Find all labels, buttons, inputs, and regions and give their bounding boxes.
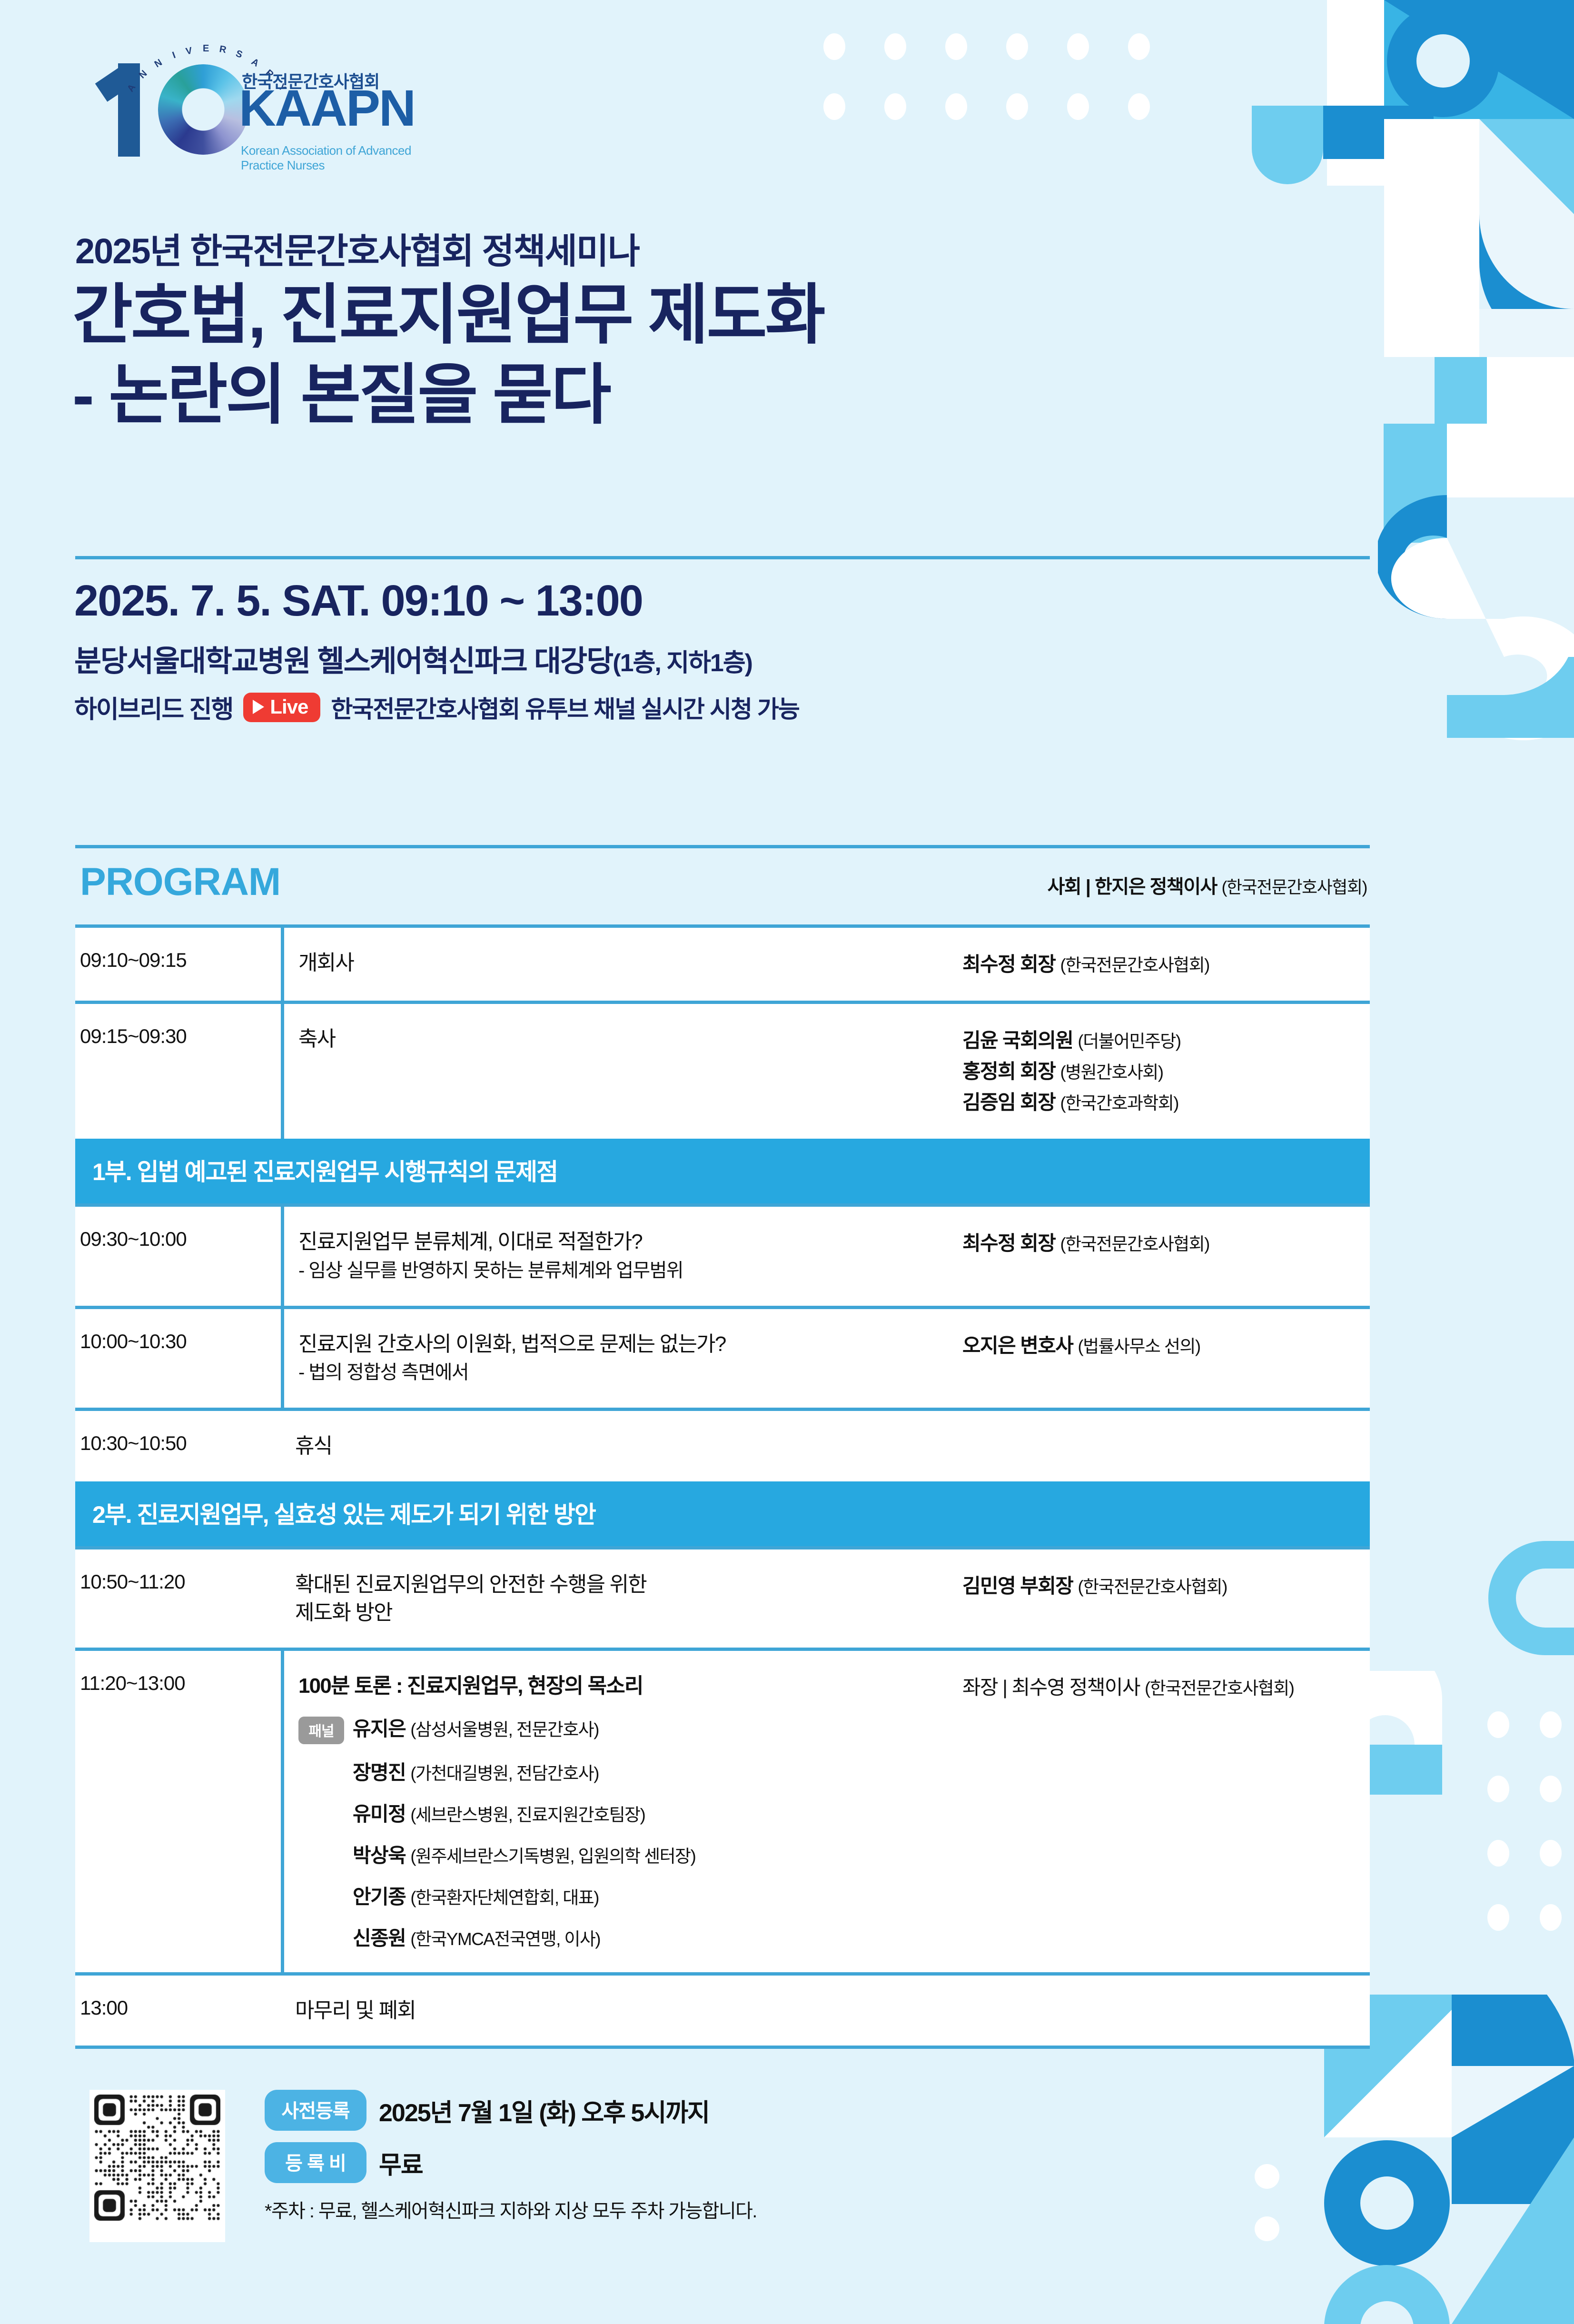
panelist-name: 박상욱	[353, 1844, 406, 1867]
panel-badge-spacer: .	[298, 1885, 344, 1907]
hybrid-info: 하이브리드 진행 Live 한국전문간호사협회 유투브 채널 실시간 시청 가능	[74, 689, 799, 725]
program-table: PROGRAM 사회 | 한지은 정책이사 (한국전문간호사협회) 09:10~…	[75, 845, 1370, 2049]
row-title: 100분 토론 : 진료지원업무, 현장의 목소리	[298, 1672, 951, 1700]
fee-pill: 등 록 비	[265, 2142, 366, 2183]
panelist: 유미정 (세브란스병원, 진료지원간호팀장)	[353, 1798, 645, 1827]
speaker: 최수정 회장 (한국전문간호사협회)	[962, 1228, 1370, 1259]
table-row: 13:00 마무리 및 폐회	[75, 1972, 1370, 2046]
panel-badge-spacer: .	[298, 1843, 344, 1866]
live-badge-label: Live	[270, 695, 308, 718]
row-time: 09:15~09:30	[75, 1004, 281, 1139]
program-header: PROGRAM 사회 | 한지은 정책이사 (한국전문간호사협회)	[75, 845, 1370, 924]
section-banner-part2: 2부. 진료지원업무, 실효성 있는 제도가 되기 위한 방안	[75, 1481, 1370, 1546]
speaker-org: (더불어민주당)	[1078, 1032, 1180, 1051]
panel-badge-spacer: .	[298, 1926, 344, 1949]
list-item: . 안기종 (한국환자단체연합회, 대표)	[298, 1881, 951, 1910]
panelist-name: 안기종	[353, 1886, 406, 1908]
speaker: 오지은 변호사 (법률사무소 선의)	[962, 1330, 1370, 1361]
speaker: 최수정 회장 (한국전문간호사협회)	[962, 949, 1370, 980]
row-content: 개회사	[281, 928, 951, 1001]
row-title: 개회사	[298, 949, 951, 977]
row-content: 축사	[281, 1004, 951, 1139]
fee-value: 무료	[379, 2145, 423, 2181]
row-speakers: 오지은 변호사 (법률사무소 선의)	[951, 1309, 1370, 1408]
table-row: 10:00~10:30 진료지원 간호사의 이원화, 법적으로 문제는 없는가?…	[75, 1306, 1370, 1408]
play-icon	[253, 700, 264, 714]
speaker: 김윤 국회의원 (더불어민주당)	[962, 1025, 1370, 1056]
venue-main: 분당서울대학교병원 헬스케어혁신파크 대강당	[74, 645, 613, 678]
logo-acronym: KAAPN	[239, 82, 415, 134]
panelist-org: (원주세브란스기독병원, 입원의학 센터장)	[410, 1847, 695, 1866]
row-speakers: 최수정 회장 (한국전문간호사협회)	[951, 1207, 1370, 1305]
chair-name: 좌장 | 최수영 정책이사	[962, 1676, 1140, 1698]
panelist-name: 장명진	[353, 1761, 406, 1784]
panelist-name: 유지은	[353, 1718, 406, 1740]
speaker-name: 홍정희 회장	[962, 1060, 1055, 1083]
row-content: 100분 토론 : 진료지원업무, 현장의 목소리 패널 유지은 (삼성서울병원…	[281, 1651, 951, 1972]
row-speakers	[951, 1976, 1370, 2046]
panelist: 박상욱 (원주세브란스기독병원, 입원의학 센터장)	[353, 1839, 695, 1868]
list-item: 패널 유지은 (삼성서울병원, 전문간호사)	[298, 1713, 951, 1744]
panelist-org: (한국환자단체연합회, 대표)	[410, 1888, 599, 1907]
speaker-name: 김윤 국회의원	[962, 1029, 1073, 1052]
moderator: 사회 | 한지은 정책이사 (한국전문간호사협회)	[1048, 871, 1367, 899]
program-heading: PROGRAM	[80, 860, 280, 904]
speaker-org: (한국전문간호사협회)	[1060, 955, 1209, 975]
row-subtitle: - 임상 실무를 반영하지 못하는 분류체계와 업무범위	[298, 1256, 951, 1285]
stream-note: 한국전문간호사협회 유투브 채널 실시간 시청 가능	[331, 690, 799, 725]
event-title: 간호법, 진료지원업무 제도화 - 논란의 본질을 묻다	[72, 275, 824, 436]
row-time: 09:10~09:15	[75, 928, 281, 1001]
row-speakers: 최수정 회장 (한국전문간호사협회)	[951, 928, 1370, 1001]
table-row: 09:10~09:15 개회사 최수정 회장 (한국전문간호사협회)	[75, 924, 1370, 1001]
header-divider	[75, 556, 1370, 559]
panel-badge: 패널	[298, 1717, 344, 1744]
row-content: 마무리 및 폐회	[281, 1976, 951, 2046]
row-time: 09:30~10:00	[75, 1207, 281, 1305]
panelist-org: (가천대길병원, 전담간호사)	[410, 1764, 599, 1783]
logo-english-name: Korean Association of Advanced Practice …	[241, 143, 414, 173]
panelist-name: 유미정	[353, 1803, 406, 1825]
row-time: 10:00~10:30	[75, 1309, 281, 1408]
decor-right-c-shape	[1437, 1530, 1574, 1730]
table-row-panel: 11:20~13:00 100분 토론 : 진료지원업무, 현장의 목소리 패널…	[75, 1648, 1370, 1972]
speaker-org: (한국전문간호사협회)	[1060, 1234, 1209, 1254]
row-speakers	[951, 1411, 1370, 1481]
panel-badge-spacer: .	[298, 1760, 344, 1783]
panelist: 유지은 (삼성서울병원, 전문간호사)	[353, 1713, 599, 1742]
list-item: . 장명진 (가천대길병원, 전담간호사)	[298, 1757, 951, 1786]
pre-registration-row: 사전등록 2025년 7월 1일 (화) 오후 5시까지	[265, 2090, 709, 2131]
row-time: 10:50~11:20	[75, 1549, 281, 1648]
speaker-org: (한국전문간호사협회)	[1078, 1577, 1227, 1597]
event-venue: 분당서울대학교병원 헬스케어혁신파크 대강당(1층, 지하1층)	[74, 637, 752, 680]
panelist-org: (한국YMCA전국연맹, 이사)	[410, 1929, 600, 1949]
row-chair: 좌장 | 최수영 정책이사 (한국전문간호사협회)	[951, 1651, 1370, 1972]
panelist-org: (삼성서울병원, 전문간호사)	[410, 1720, 599, 1739]
row-title: 휴식	[295, 1432, 951, 1460]
parking-note: *주차 : 무료, 헬스케어혁신파크 지하와 지상 모두 주차 가능합니다.	[265, 2195, 757, 2223]
fee-row: 등 록 비 무료	[265, 2142, 709, 2183]
row-content: 확대된 진료지원업무의 안전한 수행을 위한 제도화 방안	[281, 1549, 951, 1648]
row-speakers: 김민영 부회장 (한국전문간호사협회)	[951, 1549, 1370, 1648]
panelist: 신종원 (한국YMCA전국연맹, 이사)	[353, 1922, 600, 1951]
kaapn-logo: A N N I V E R S A R Y 한국전문간호사협회 KAAPN Ko…	[52, 26, 414, 169]
speaker-name: 최수정 회장	[962, 953, 1055, 975]
table-bottom-divider	[75, 2046, 1370, 2049]
hybrid-label: 하이브리드 진행	[74, 689, 233, 725]
row-title: 축사	[298, 1025, 951, 1053]
speaker-name: 김민영 부회장	[962, 1575, 1073, 1597]
pre-register-pill: 사전등록	[265, 2090, 366, 2131]
speaker-org: (법률사무소 선의)	[1078, 1337, 1200, 1356]
section-banner-part1: 1부. 입법 예고된 진료지원업무 시행규칙의 문제점	[75, 1139, 1370, 1203]
speaker-org: (병원간호사회)	[1060, 1063, 1163, 1082]
panelist: 안기종 (한국환자단체연합회, 대표)	[353, 1881, 599, 1910]
moderator-name: 사회 | 한지은 정책이사	[1048, 876, 1217, 897]
live-badge: Live	[243, 693, 320, 722]
speaker: 김증임 회장 (한국간호과학회)	[962, 1087, 1370, 1118]
registration-info: 사전등록 2025년 7월 1일 (화) 오후 5시까지 등 록 비 무료	[265, 2090, 709, 2195]
event-kicker: 2025년 한국전문간호사협회 정책세미나	[75, 223, 639, 274]
table-row: 10:50~11:20 확대된 진료지원업무의 안전한 수행을 위한 제도화 방…	[75, 1546, 1370, 1648]
list-item: . 유미정 (세브란스병원, 진료지원간호팀장)	[298, 1798, 951, 1827]
row-title: 확대된 진료지원업무의 안전한 수행을 위한 제도화 방안	[295, 1570, 951, 1627]
speaker-name: 최수정 회장	[962, 1232, 1055, 1254]
decor-right-s-shape	[1378, 424, 1574, 909]
list-item: . 박상욱 (원주세브란스기독병원, 입원의학 센터장)	[298, 1839, 951, 1868]
chair: 좌장 | 최수영 정책이사 (한국전문간호사협회)	[962, 1672, 1370, 1703]
venue-floor: (1층, 지하1층)	[613, 649, 752, 677]
table-row: 09:15~09:30 축사 김윤 국회의원 (더불어민주당) 홍정희 회장 (…	[75, 1001, 1370, 1139]
poster-root: A N N I V E R S A R Y 한국전문간호사협회 KAAPN Ko…	[0, 0, 1574, 2324]
row-title: 진료지원 간호사의 이원화, 법적으로 문제는 없는가?	[298, 1330, 951, 1358]
row-speakers: 김윤 국회의원 (더불어민주당) 홍정희 회장 (병원간호사회) 김증임 회장 …	[951, 1004, 1370, 1139]
row-title: 마무리 및 폐회	[295, 1996, 951, 2025]
row-subtitle: - 법의 정합성 측면에서	[298, 1358, 951, 1387]
speaker-org: (한국간호과학회)	[1060, 1093, 1178, 1113]
row-time: 11:20~13:00	[75, 1651, 281, 1972]
speaker: 홍정희 회장 (병원간호사회)	[962, 1056, 1370, 1087]
panelist: 장명진 (가천대길병원, 전담간호사)	[353, 1757, 599, 1786]
row-time: 10:30~10:50	[75, 1411, 281, 1481]
table-row: 09:30~10:00 진료지원업무 분류체계, 이대로 적절한가? - 임상 …	[75, 1203, 1370, 1305]
event-datetime: 2025. 7. 5. SAT. 09:10 ~ 13:00	[74, 576, 643, 626]
speaker-name: 오지은 변호사	[962, 1334, 1073, 1357]
panel-badge-spacer: .	[298, 1802, 344, 1825]
decor-top-right	[1090, 0, 1574, 552]
row-content: 진료지원업무 분류체계, 이대로 적절한가? - 임상 실무를 반영하지 못하는…	[281, 1207, 951, 1305]
panelist-org: (세브란스병원, 진료지원간호팀장)	[410, 1805, 645, 1825]
chair-org: (한국전문간호사협회)	[1145, 1678, 1294, 1698]
row-content: 휴식	[281, 1411, 951, 1481]
qr-code[interactable]	[89, 2090, 225, 2242]
list-item: . 신종원 (한국YMCA전국연맹, 이사)	[298, 1922, 951, 1951]
row-title: 진료지원업무 분류체계, 이대로 적절한가?	[298, 1228, 951, 1256]
row-time: 13:00	[75, 1976, 281, 2046]
row-content: 진료지원 간호사의 이원화, 법적으로 문제는 없는가? - 법의 정합성 측면…	[281, 1309, 951, 1408]
speaker: 김민영 부회장 (한국전문간호사협회)	[962, 1570, 1370, 1601]
pre-register-value: 2025년 7월 1일 (화) 오후 5시까지	[379, 2093, 709, 2128]
panelist-name: 신종원	[353, 1927, 406, 1949]
moderator-org: (한국전문간호사협회)	[1221, 877, 1367, 897]
speaker-name: 김증임 회장	[962, 1091, 1055, 1113]
table-row: 10:30~10:50 휴식	[75, 1408, 1370, 1481]
